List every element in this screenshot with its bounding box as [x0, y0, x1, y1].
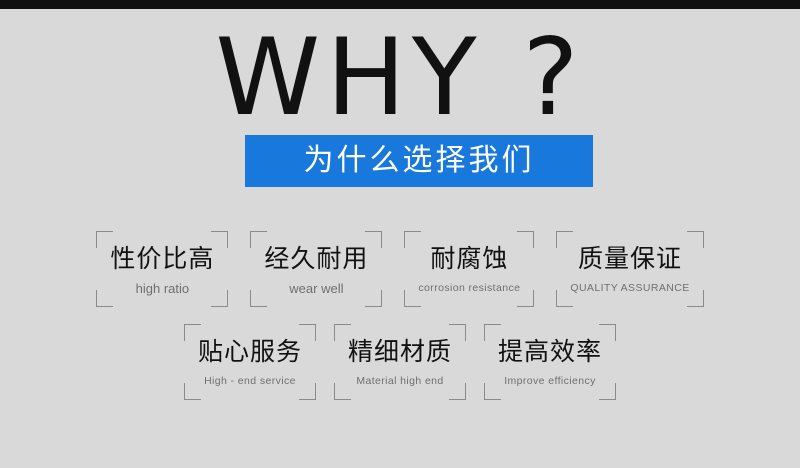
promo-banner: WHY ? 为什么选择我们 性价比高 high ratio 经久耐用 wear …	[0, 9, 800, 468]
corner-bracket-icon	[211, 290, 228, 307]
corner-bracket-icon	[184, 383, 201, 400]
corner-bracket-icon	[687, 290, 704, 307]
feature-list: 性价比高 high ratio 经久耐用 wear well 耐腐蚀 corro…	[0, 231, 800, 400]
feature-card-material-high-end: 精细材质 Material high end	[334, 324, 466, 400]
feature-card-corrosion-resistance: 耐腐蚀 corrosion resistance	[404, 231, 534, 307]
feature-card-wear-well: 经久耐用 wear well	[250, 231, 382, 307]
corner-bracket-icon	[404, 290, 421, 307]
corner-bracket-icon	[334, 324, 351, 341]
corner-bracket-icon	[211, 231, 228, 248]
feature-row-2: 贴心服务 High - end service 精细材质 Material hi…	[0, 324, 800, 400]
feature-card-high-ratio: 性价比高 high ratio	[96, 231, 228, 307]
feature-title: 精细材质	[348, 336, 452, 368]
top-accent-bar	[0, 0, 800, 9]
corner-bracket-icon	[96, 290, 113, 307]
feature-title: 耐腐蚀	[418, 243, 520, 275]
corner-bracket-icon	[365, 290, 382, 307]
corner-bracket-icon	[299, 383, 316, 400]
feature-title: 贴心服务	[198, 336, 302, 368]
page-subtitle: 为什么选择我们	[245, 135, 593, 187]
corner-bracket-icon	[484, 383, 501, 400]
corner-bracket-icon	[449, 324, 466, 341]
feature-subtitle: QUALITY ASSURANCE	[570, 280, 689, 297]
corner-bracket-icon	[517, 290, 534, 307]
corner-bracket-icon	[334, 383, 351, 400]
feature-subtitle: High - end service	[198, 373, 302, 390]
page-title: WHY ?	[0, 23, 800, 133]
feature-subtitle: high ratio	[110, 280, 214, 297]
corner-bracket-icon	[449, 383, 466, 400]
corner-bracket-icon	[599, 383, 616, 400]
corner-bracket-icon	[404, 231, 421, 248]
feature-card-improve-efficiency: 提高效率 Improve efficiency	[484, 324, 616, 400]
corner-bracket-icon	[365, 231, 382, 248]
corner-bracket-icon	[96, 231, 113, 248]
feature-subtitle: Improve efficiency	[498, 373, 602, 390]
corner-bracket-icon	[484, 324, 501, 341]
feature-card-high-end-service: 贴心服务 High - end service	[184, 324, 316, 400]
corner-bracket-icon	[599, 324, 616, 341]
feature-title: 提高效率	[498, 336, 602, 368]
corner-bracket-icon	[556, 231, 573, 248]
feature-subtitle: wear well	[264, 280, 368, 297]
feature-title: 质量保证	[570, 243, 689, 275]
feature-subtitle: corrosion resistance	[418, 280, 520, 297]
feature-title: 性价比高	[110, 243, 214, 275]
corner-bracket-icon	[556, 290, 573, 307]
corner-bracket-icon	[250, 231, 267, 248]
corner-bracket-icon	[299, 324, 316, 341]
corner-bracket-icon	[687, 231, 704, 248]
corner-bracket-icon	[184, 324, 201, 341]
feature-row-1: 性价比高 high ratio 经久耐用 wear well 耐腐蚀 corro…	[0, 231, 800, 307]
corner-bracket-icon	[517, 231, 534, 248]
corner-bracket-icon	[250, 290, 267, 307]
feature-title: 经久耐用	[264, 243, 368, 275]
feature-subtitle: Material high end	[348, 373, 452, 390]
feature-card-quality-assurance: 质量保证 QUALITY ASSURANCE	[556, 231, 703, 307]
